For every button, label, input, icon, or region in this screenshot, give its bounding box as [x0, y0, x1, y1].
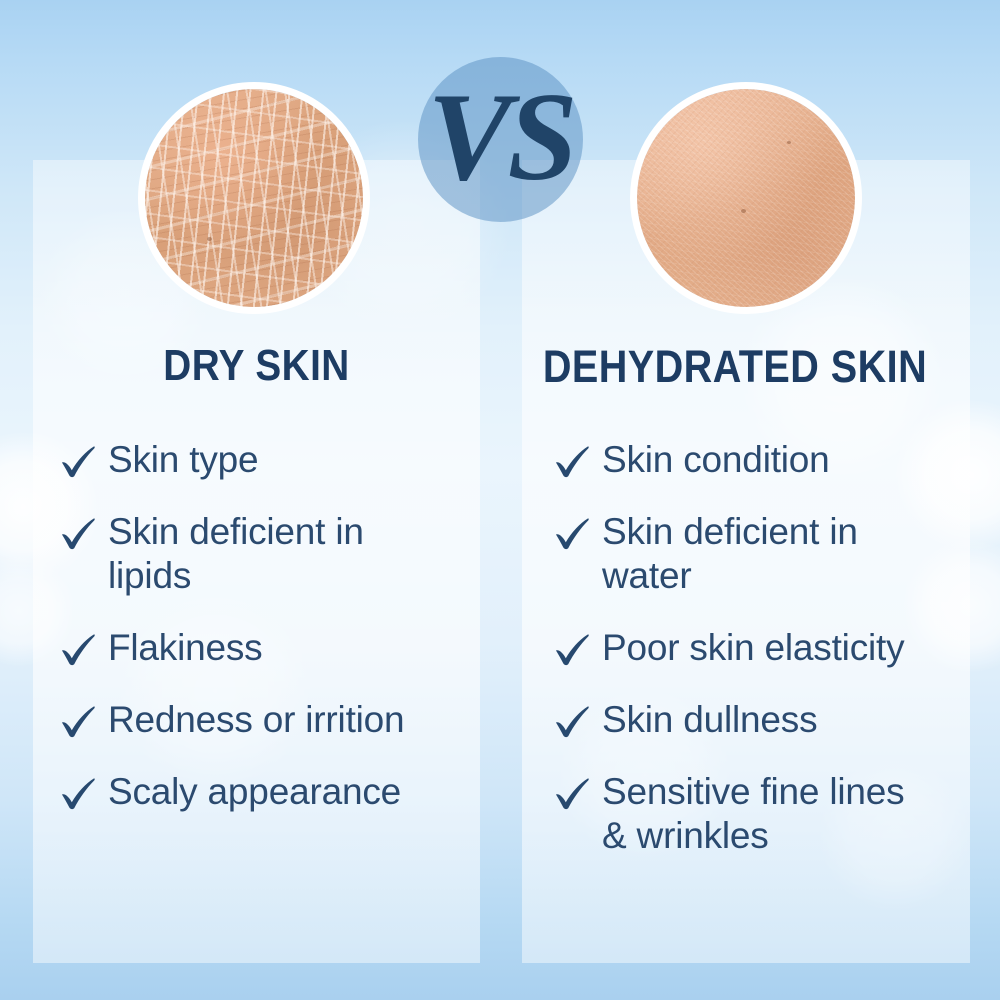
list-item-label: Flakiness	[108, 626, 262, 670]
dehydrated-skin-texture-photo	[630, 82, 862, 314]
list-item-label: Scaly appearance	[108, 770, 401, 814]
list-item-label: Sensitive fine lines & wrinkles	[602, 770, 904, 858]
dry-skin-texture-fill	[145, 89, 363, 307]
column-heading-dehydrated-skin: DEHYDRATED SKIN	[528, 341, 942, 393]
check-icon	[552, 442, 592, 482]
feature-list-dehydrated-skin: Skin condition Skin deficient in water P…	[552, 438, 964, 858]
list-item-label: Skin deficient in water	[602, 510, 858, 598]
list-item: Skin dullness	[552, 698, 964, 742]
vs-label: VS	[427, 75, 573, 201]
check-icon	[58, 514, 98, 554]
list-item: Redness or irrition	[58, 698, 468, 742]
dehydrated-skin-texture-fill	[637, 89, 855, 307]
check-icon	[552, 774, 592, 814]
list-item: Sensitive fine lines & wrinkles	[552, 770, 964, 858]
comparison-hero: VS	[0, 0, 1000, 340]
column-heading-dry-skin: DRY SKIN	[60, 341, 453, 391]
check-icon	[58, 442, 98, 482]
skin-mole	[741, 209, 746, 213]
list-item-label: Skin condition	[602, 438, 830, 482]
infographic-canvas: VS DRY SKIN DEHYDRATED SKIN Skin type Sk…	[0, 0, 1000, 1000]
check-icon	[58, 630, 98, 670]
list-item: Poor skin elasticity	[552, 626, 964, 670]
vs-badge: VS	[418, 57, 583, 222]
check-icon	[58, 774, 98, 814]
list-item-label: Skin type	[108, 438, 258, 482]
check-icon	[552, 514, 592, 554]
skin-mole	[207, 237, 212, 241]
check-icon	[58, 702, 98, 742]
list-item: Skin deficient in water	[552, 510, 964, 598]
check-icon	[552, 702, 592, 742]
list-item: Skin condition	[552, 438, 964, 482]
list-item-label: Poor skin elasticity	[602, 626, 904, 670]
list-item-label: Skin deficient in lipids	[108, 510, 364, 598]
list-item: Scaly appearance	[58, 770, 468, 814]
check-icon	[552, 630, 592, 670]
list-item: Flakiness	[58, 626, 468, 670]
list-item-label: Redness or irrition	[108, 698, 404, 742]
list-item: Skin deficient in lipids	[58, 510, 468, 598]
list-item-label: Skin dullness	[602, 698, 817, 742]
skin-mole	[787, 141, 791, 144]
list-item: Skin type	[58, 438, 468, 482]
feature-list-dry-skin: Skin type Skin deficient in lipids Flaki…	[58, 438, 468, 814]
dry-skin-texture-photo	[138, 82, 370, 314]
